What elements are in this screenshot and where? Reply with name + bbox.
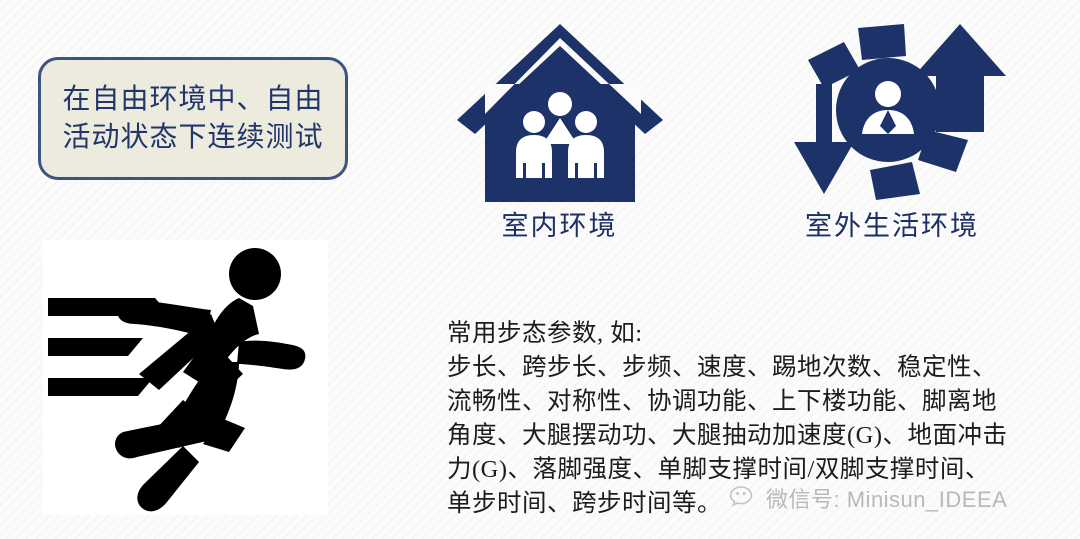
- running-person-pictogram: [43, 240, 328, 515]
- outdoor-environment-block: 室外生活环境: [776, 22, 1008, 243]
- params-line: 流畅性、对称性、协调功能、上下楼功能、脚离地: [447, 385, 1047, 419]
- wechat-logo-icon: [729, 485, 759, 511]
- indoor-environment-block: 室内环境: [452, 22, 667, 243]
- callout-text: 在自由环境中、自由活动状态下连续测试: [59, 81, 327, 157]
- slide-canvas: 在自由环境中、自由活动状态下连续测试: [0, 0, 1080, 539]
- params-heading: 常用步态参数, 如:: [447, 317, 1047, 351]
- params-line: 角度、大腿摆动功、大腿抽动加速度(G)、地面冲击: [447, 419, 1047, 453]
- watermark: 微信号: Minisun_IDEEA: [729, 482, 1007, 514]
- person-in-circle-with-arrows-icon: [778, 22, 1006, 202]
- runner-image-panel: [43, 240, 328, 515]
- house-with-family-icon: [455, 22, 665, 202]
- outdoor-environment-label: 室外生活环境: [776, 204, 1008, 243]
- watermark-text: 微信号: Minisun_IDEEA: [766, 482, 1007, 514]
- callout-box: 在自由环境中、自由活动状态下连续测试: [38, 57, 348, 180]
- params-line: 步长、跨步长、步频、速度、踢地次数、稳定性、: [447, 351, 1047, 385]
- indoor-environment-label: 室内环境: [452, 204, 667, 243]
